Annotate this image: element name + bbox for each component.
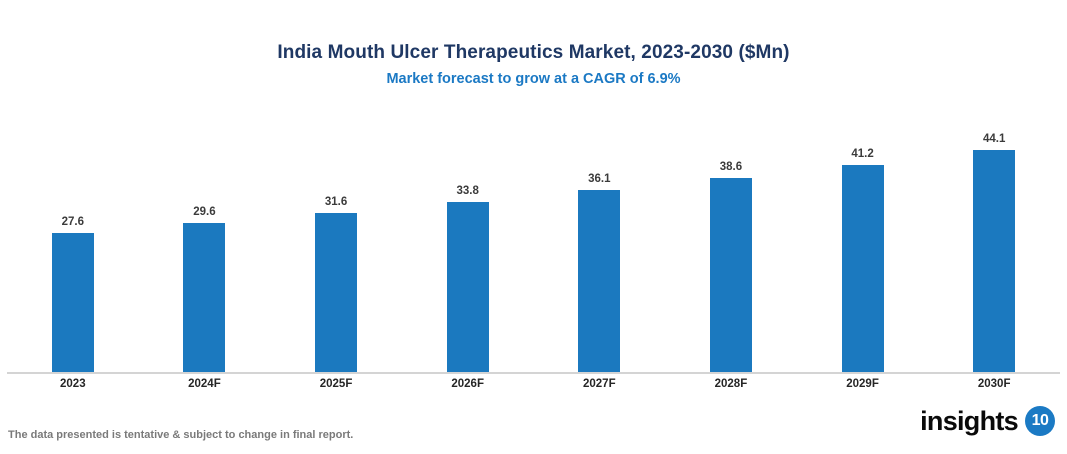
bar[interactable] bbox=[710, 178, 752, 373]
bar-value-label: 29.6 bbox=[193, 206, 215, 219]
disclaimer-text: The data presented is tentative & subjec… bbox=[8, 428, 353, 442]
bar-value-label: 33.8 bbox=[456, 185, 478, 198]
bar-slot: 44.1 bbox=[928, 110, 1060, 373]
x-axis-tick-label: 2025F bbox=[270, 377, 402, 392]
chart-title: India Mouth Ulcer Therapeutics Market, 2… bbox=[0, 42, 1067, 64]
bar-slot: 33.8 bbox=[402, 110, 534, 373]
x-axis-tick-label: 2027F bbox=[534, 377, 666, 392]
bar[interactable] bbox=[183, 223, 225, 373]
bar[interactable] bbox=[578, 190, 620, 373]
bar[interactable] bbox=[447, 202, 489, 373]
bar[interactable] bbox=[52, 233, 94, 373]
bar-slot: 38.6 bbox=[665, 110, 797, 373]
bar[interactable] bbox=[842, 165, 884, 373]
x-axis-line bbox=[7, 372, 1060, 374]
bar-slot: 31.6 bbox=[270, 110, 402, 373]
bar-value-label: 41.2 bbox=[851, 148, 873, 161]
x-axis-tick-label: 2029F bbox=[797, 377, 929, 392]
bar[interactable] bbox=[315, 213, 357, 373]
chart-card: India Mouth Ulcer Therapeutics Market, 2… bbox=[0, 0, 1067, 454]
bar-slot: 36.1 bbox=[534, 110, 666, 373]
bar-value-label: 44.1 bbox=[983, 133, 1005, 146]
bar-value-label: 27.6 bbox=[62, 216, 84, 229]
bar[interactable] bbox=[973, 150, 1015, 373]
x-axis-tick-label: 2023 bbox=[7, 377, 139, 392]
x-axis-tick-label: 2024F bbox=[139, 377, 271, 392]
bar-slot: 27.6 bbox=[7, 110, 139, 373]
bars-row: 27.629.631.633.836.138.641.244.1 bbox=[7, 110, 1060, 373]
x-axis-tick-label: 2028F bbox=[665, 377, 797, 392]
chart-subtitle: Market forecast to grow at a CAGR of 6.9… bbox=[0, 70, 1067, 88]
bar-value-label: 31.6 bbox=[325, 196, 347, 209]
bar-slot: 29.6 bbox=[139, 110, 271, 373]
bar-slot: 41.2 bbox=[797, 110, 929, 373]
title-block: India Mouth Ulcer Therapeutics Market, 2… bbox=[0, 42, 1067, 88]
plot-area: 27.629.631.633.836.138.641.244.1 bbox=[7, 110, 1060, 373]
logo-badge-icon: 10 bbox=[1025, 406, 1055, 436]
x-axis-tick-label: 2026F bbox=[402, 377, 534, 392]
bar-value-label: 36.1 bbox=[588, 173, 610, 186]
insights10-logo: insights 10 bbox=[920, 406, 1055, 436]
logo-wordmark: insights bbox=[920, 406, 1018, 436]
bar-value-label: 38.6 bbox=[720, 161, 742, 174]
x-axis-labels: 20232024F2025F2026F2027F2028F2029F2030F bbox=[7, 377, 1060, 392]
x-axis-tick-label: 2030F bbox=[928, 377, 1060, 392]
